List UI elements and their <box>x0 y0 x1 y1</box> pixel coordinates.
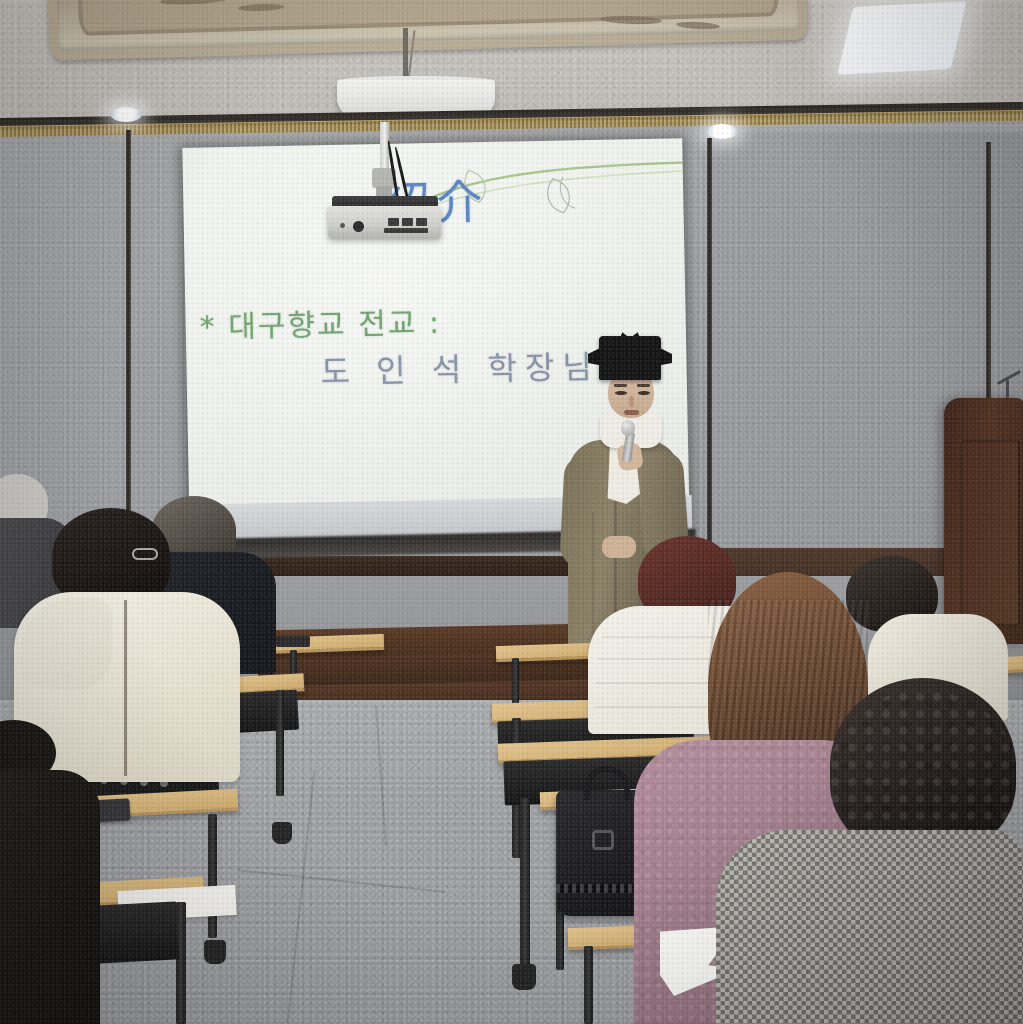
smartphone <box>276 636 310 647</box>
led-panel-light <box>837 1 966 75</box>
handbag-clasp <box>592 830 614 850</box>
desk-caster <box>204 940 226 964</box>
desk-caster <box>512 964 536 990</box>
podium-microphone-stem <box>1006 380 1009 398</box>
projector-port <box>388 218 399 226</box>
projector-port <box>416 218 427 226</box>
houndstooth-texture <box>716 830 1023 1024</box>
projector <box>328 206 441 238</box>
desk-leg <box>276 690 284 796</box>
hanbok-sleeve-left <box>559 455 609 569</box>
robe-fold <box>592 512 594 644</box>
hand-lower <box>602 536 636 558</box>
projector-vent <box>384 228 428 233</box>
wall-panel-seam <box>707 138 712 548</box>
jacket-seam <box>124 600 127 776</box>
microphone-head <box>621 420 635 436</box>
nose <box>629 396 634 407</box>
eyebrow-right <box>637 384 650 387</box>
eye-right <box>638 391 650 395</box>
desk-leg <box>176 902 186 1024</box>
mouth <box>624 410 639 415</box>
slide-bullet-line: * 대구향교 전교 : <box>199 298 441 347</box>
eyeglasses <box>132 548 158 560</box>
desk-leg <box>584 946 593 1024</box>
wall-panel-seam <box>986 142 991 442</box>
desk-leg <box>520 798 530 968</box>
projector-lens <box>353 221 364 232</box>
eyebrow-left <box>614 384 627 387</box>
projector-port <box>402 218 413 226</box>
wall-panel-seam <box>126 130 131 550</box>
desk-caster <box>272 822 292 844</box>
eye-left <box>615 391 627 395</box>
podium-front-panel <box>960 440 1020 626</box>
spotlight-right <box>706 124 738 139</box>
desk-leg <box>208 814 217 938</box>
attendee-body <box>0 770 100 1024</box>
lecture-hall-photo: 紹介 * 대구향교 전교 : 도 인 석 학장님 <box>0 0 1023 1024</box>
spotlight-left <box>110 107 142 122</box>
projector-indicator <box>340 223 345 228</box>
